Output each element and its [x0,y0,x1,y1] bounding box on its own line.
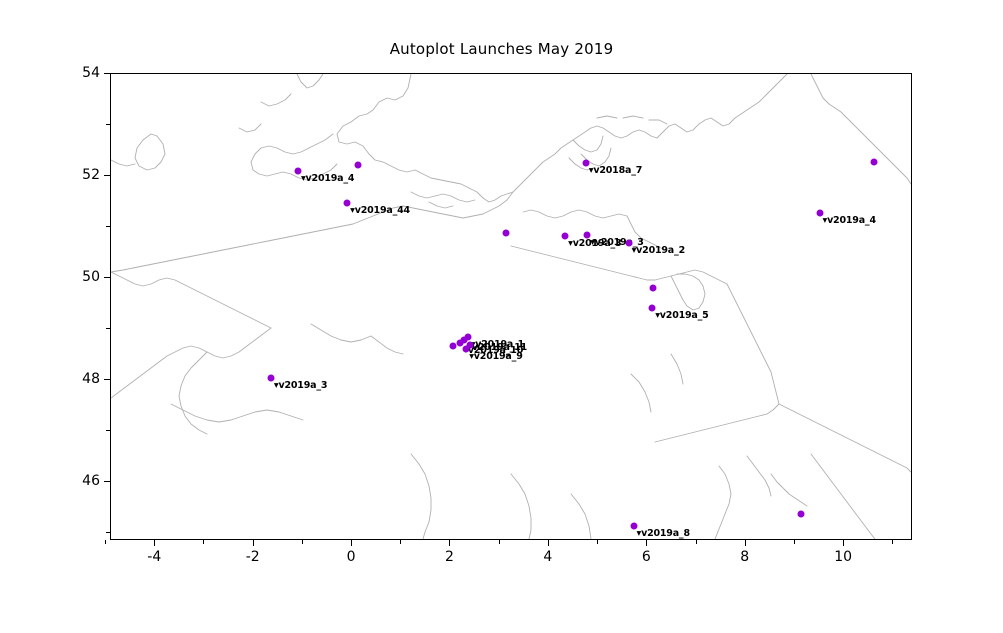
y-minor-tick [106,328,110,329]
y-tick [104,277,110,278]
x-minor-tick [499,540,500,544]
x-minor-tick [597,540,598,544]
x-minor-tick [302,540,303,544]
point-label: ▾v2019a_3 [274,380,327,391]
point-label: ▾v2019a_2 [632,245,685,256]
scatter-point[interactable] [797,510,804,517]
x-tick [843,540,844,546]
y-tick-label: 46 [82,473,100,489]
y-minor-tick [106,532,110,533]
point-label: ▾v2019a_5 [655,310,708,321]
x-tick-label: 8 [740,549,749,565]
x-minor-tick [105,540,106,544]
y-minor-tick [106,430,110,431]
x-minor-tick [696,540,697,544]
y-tick [104,73,110,74]
point-label: ▾v2018a_7 [589,165,642,176]
x-tick-label: -4 [147,549,161,565]
figure-canvas: Autoplot Launches May 2019 [0,0,1003,633]
y-axis: 4648505254 [60,73,110,540]
x-tick-label: 2 [445,549,454,565]
x-tick [646,540,647,546]
point-label: ▾v2019a_8 [637,528,690,539]
y-tick [104,175,110,176]
x-tick-label: 10 [834,549,852,565]
x-tick [154,540,155,546]
x-minor-tick [400,540,401,544]
x-minor-tick [203,540,204,544]
x-tick [548,540,549,546]
x-minor-tick [892,540,893,544]
scatter-point[interactable] [502,230,509,237]
x-axis: -4-20246810 [110,540,912,580]
scatter-point[interactable] [650,285,657,292]
point-label: ▾v2019a_9 [469,351,522,362]
y-tick-label: 52 [82,167,100,183]
y-tick [104,379,110,380]
x-tick-label: 4 [543,549,552,565]
scatter-point[interactable] [870,158,877,165]
y-tick [104,481,110,482]
x-tick [745,540,746,546]
coastline-map [111,74,911,539]
y-tick-label: 54 [82,65,100,81]
point-label: ▾v2019a_4 [823,215,876,226]
scatter-point[interactable] [449,342,456,349]
x-tick-label: 0 [347,549,356,565]
map-layer [111,74,911,539]
point-label: ▾v2019a_4 [301,173,354,184]
scatter-point[interactable] [354,161,361,168]
plot-area: ▾v2019a_4▾v2019a_44▾v2018a_7▾v2019a_4▾v2… [110,73,912,540]
x-tick [449,540,450,546]
chart-title: Autoplot Launches May 2019 [0,40,1003,58]
x-tick-label: 6 [642,549,651,565]
y-minor-tick [106,226,110,227]
y-tick-label: 50 [82,269,100,285]
point-label: ▾v2019a_44 [350,205,410,216]
y-tick-label: 48 [82,371,100,387]
x-tick-label: -2 [246,549,260,565]
y-minor-tick [106,124,110,125]
x-tick [351,540,352,546]
x-minor-tick [794,540,795,544]
x-tick [253,540,254,546]
